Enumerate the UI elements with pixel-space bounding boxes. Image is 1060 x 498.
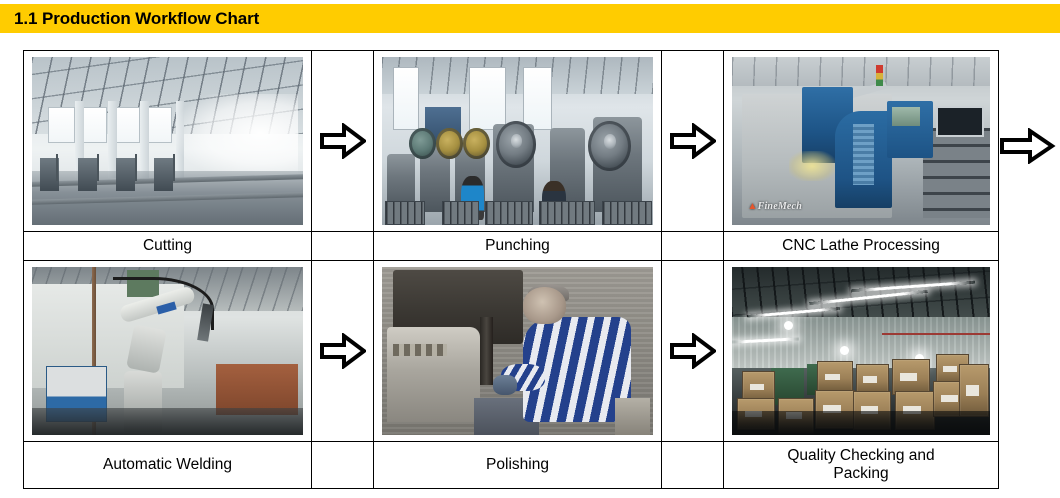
photo-frame-punching (374, 51, 661, 231)
section-header-bar: 1.1 Production Workflow Chart (0, 4, 1060, 33)
right-arrow-icon (312, 123, 373, 159)
caption-automatic-welding: Automatic Welding (24, 442, 312, 489)
stand-shape (173, 154, 175, 181)
warehouse-floor-shape (732, 411, 990, 435)
right-arrow-icon-outside (1000, 128, 1056, 164)
photo-cnc-lathe: ▲FineMech (732, 57, 990, 225)
machine-brand-label: ▲FineMech (747, 201, 802, 212)
right-arrow-icon (312, 333, 373, 369)
brand-mark-icon: ▲ (747, 201, 757, 212)
cell-photo-automatic-welding (24, 261, 312, 442)
machine-shape (154, 158, 173, 192)
carton-shape (892, 359, 930, 395)
work-area-glow-shape (789, 151, 835, 181)
wall-stripe-shape (882, 333, 990, 335)
carton-shape (817, 361, 853, 393)
photo-frame-quality-checking-packing (724, 261, 998, 441)
worker-glove-shape (493, 375, 517, 395)
workflow-row-bottom-captions: Automatic Welding Polishing Quality Chec… (24, 442, 999, 489)
stand-shape (135, 154, 137, 181)
machine-shape (116, 158, 135, 192)
caption-punching: Punching (374, 232, 662, 261)
page-title: 1.1 Production Workflow Chart (0, 9, 259, 29)
wire-crate-shape (485, 201, 533, 225)
carton-shape (959, 364, 989, 416)
workbench-shape (387, 327, 479, 421)
flywheel-hub-shape (511, 134, 522, 147)
caption-quality-checking-and-packing: Quality Checking and Packing (724, 442, 999, 489)
window-glare-shape (173, 94, 298, 181)
photo-automatic-welding (32, 267, 303, 435)
window-shape (113, 107, 139, 143)
window-shape (393, 67, 419, 129)
window-shape (469, 67, 506, 129)
cell-photo-punching (374, 51, 662, 232)
wire-crate-shape (539, 201, 595, 225)
cell-photo-polishing (374, 261, 662, 442)
photo-quality-checking-packing (732, 267, 990, 435)
window-shape (48, 107, 74, 143)
photo-punching (382, 57, 653, 225)
cell-arrow-2 (662, 51, 724, 232)
photo-polishing (382, 267, 653, 435)
machine-door-window-shape (853, 124, 874, 184)
photo-frame-automatic-welding (24, 261, 311, 441)
ceiling-shape (732, 57, 990, 86)
stand-shape (56, 154, 58, 181)
pillar-shape (140, 101, 149, 178)
workflow-row-bottom-photos (24, 261, 999, 442)
workflow-row-top-captions: Cutting Punching CNC Lathe Processing (24, 232, 999, 261)
spacer-cell-1 (312, 232, 374, 261)
drill-press-column-shape (480, 317, 494, 384)
parts-row-shape (393, 344, 447, 356)
right-arrow-icon (662, 333, 723, 369)
caption-cnc-lathe-processing: CNC Lathe Processing (724, 232, 999, 261)
lamp-shape (784, 321, 793, 330)
machine-shape (78, 158, 97, 192)
roof-shape (382, 57, 653, 94)
cell-photo-cnc-lathe: ▲FineMech (724, 51, 999, 232)
wire-crate-shape (385, 201, 425, 225)
floor-shape (32, 408, 303, 435)
spacer-cell-3 (312, 442, 374, 489)
signal-tower-light-shape (876, 65, 882, 85)
caption-cutting: Cutting (24, 232, 312, 261)
machine-brand-text: FineMech (758, 201, 802, 212)
cell-arrow-3 (312, 261, 374, 442)
right-arrow-icon (662, 123, 723, 159)
stone-block-shape (615, 398, 650, 435)
cnc-panel-screen-shape (892, 107, 920, 125)
cell-arrow-4 (662, 261, 724, 442)
cell-photo-quality-checking-packing (724, 261, 999, 442)
production-workflow-table: ▲FineMech Cutting Punching CNC Lathe Pro… (23, 50, 999, 489)
spacer-cell-4 (662, 442, 724, 489)
window-shape (81, 107, 107, 143)
photo-frame-cnc-lathe: ▲FineMech (724, 51, 998, 231)
photo-cutting (32, 57, 303, 225)
cell-arrow-1 (312, 51, 374, 232)
monitor-shape (936, 106, 984, 137)
flywheel-shape (463, 128, 490, 160)
cell-photo-cutting (24, 51, 312, 232)
photo-frame-cutting (24, 51, 311, 231)
photo-frame-polishing (374, 261, 661, 441)
wire-crate-shape (442, 201, 479, 225)
workflow-row-top-photos: ▲FineMech (24, 51, 999, 232)
stand-shape (97, 154, 99, 181)
wire-crate-shape (602, 201, 653, 225)
spacer-cell-2 (662, 232, 724, 261)
window-shape (523, 67, 552, 129)
window-shape (146, 107, 172, 143)
worker-head-shape (523, 287, 566, 324)
caption-polishing: Polishing (374, 442, 662, 489)
